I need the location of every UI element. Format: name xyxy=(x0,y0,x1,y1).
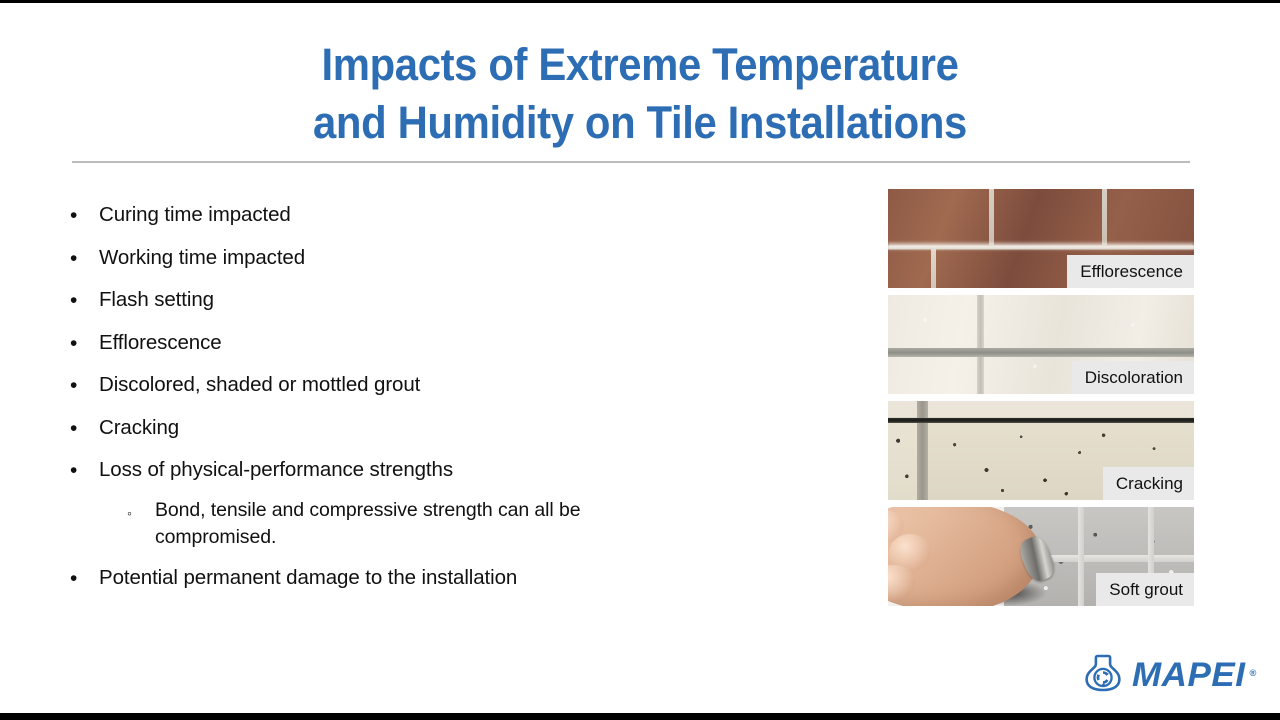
letterbox-bar-bottom xyxy=(0,713,1280,720)
slide-frame: Impacts of Extreme Temperature and Humid… xyxy=(0,0,1280,720)
bullet-marker-icon: • xyxy=(70,242,99,275)
list-item: • Working time impacted xyxy=(70,242,860,275)
list-item: • Flash setting xyxy=(70,284,860,317)
slide-title-line-2: and Humidity on Tile Installations xyxy=(45,94,1235,152)
photo-caption-label: Efflorescence xyxy=(1067,255,1194,288)
photo-stack: Efflorescence Discoloration Cracking xyxy=(888,189,1194,613)
mapei-wordmark: MAPEI ® xyxy=(1132,658,1245,692)
sub-list-item: ◦ Bond, tensile and compressive strength… xyxy=(70,497,860,551)
bullet-marker-icon: • xyxy=(70,412,99,445)
mapei-wordmark-text: MAPEI xyxy=(1132,656,1245,694)
bullet-marker-icon: • xyxy=(70,369,99,402)
photo-caption-label: Cracking xyxy=(1103,467,1194,500)
photo-card-soft-grout: Soft grout xyxy=(888,507,1194,606)
list-item: • Efflorescence xyxy=(70,327,860,360)
list-item: • Discolored, shaded or mottled grout xyxy=(70,369,860,402)
slide-canvas: Impacts of Extreme Temperature and Humid… xyxy=(0,3,1280,713)
list-item-label: Working time impacted xyxy=(99,242,305,274)
registered-trademark-icon: ® xyxy=(1249,656,1256,690)
list-item: • Loss of physical-performance strengths xyxy=(70,454,860,487)
list-item-label: Cracking xyxy=(99,412,179,444)
photo-card-cracking: Cracking xyxy=(888,401,1194,500)
bullet-list: • Curing time impacted • Working time im… xyxy=(70,199,860,604)
bullet-marker-icon: • xyxy=(70,562,99,595)
bullet-marker-icon: • xyxy=(70,284,99,317)
sub-list-item-label: Bond, tensile and compressive strength c… xyxy=(155,497,655,551)
list-item-label: Curing time impacted xyxy=(99,199,291,231)
title-divider-rule xyxy=(72,161,1190,163)
list-item-label: Potential permanent damage to the instal… xyxy=(99,562,517,594)
photo-card-discoloration: Discoloration xyxy=(888,295,1194,394)
slide-title: Impacts of Extreme Temperature and Humid… xyxy=(0,36,1280,152)
mapei-flask-swirl-icon xyxy=(1082,651,1124,698)
photo-caption-label: Discoloration xyxy=(1072,361,1194,394)
list-item: • Curing time impacted xyxy=(70,199,860,232)
photo-card-efflorescence: Efflorescence xyxy=(888,189,1194,288)
list-item: • Cracking xyxy=(70,412,860,445)
slide-title-line-1: Impacts of Extreme Temperature xyxy=(45,36,1235,94)
mapei-logo: MAPEI ® xyxy=(1082,651,1242,698)
list-item-label: Flash setting xyxy=(99,284,214,316)
list-item-label: Efflorescence xyxy=(99,327,222,359)
bullet-marker-icon: • xyxy=(70,199,99,232)
bullet-marker-icon: • xyxy=(70,327,99,360)
list-item-label: Discolored, shaded or mottled grout xyxy=(99,369,420,401)
bullet-marker-icon: • xyxy=(70,454,99,487)
list-item-label: Loss of physical-performance strengths xyxy=(99,454,453,486)
list-item: • Potential permanent damage to the inst… xyxy=(70,562,860,595)
sub-bullet-marker-icon: ◦ xyxy=(127,497,155,530)
photo-caption-label: Soft grout xyxy=(1096,573,1194,606)
